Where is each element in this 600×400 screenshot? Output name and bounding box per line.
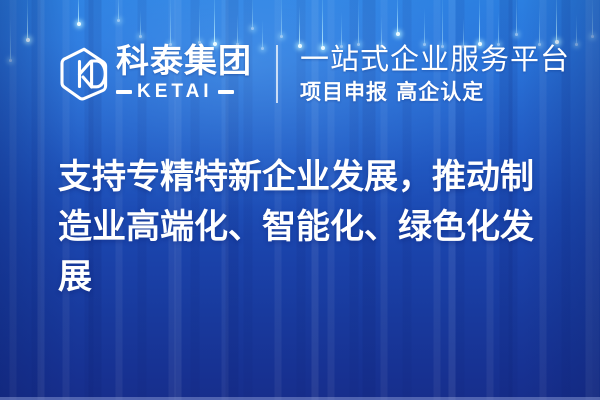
promo-banner: 科泰集团 KETAI 一站式企业服务平台 项目申报 高企认定 支持专精特新企业发…: [0, 0, 600, 400]
light-streak-icon: [199, 4, 200, 42]
brand-logo[interactable]: 科泰集团 KETAI: [58, 44, 252, 103]
light-streak-icon: [424, 8, 425, 44]
dash-left-icon: [116, 90, 132, 94]
header-divider: [276, 45, 278, 103]
light-streak-icon: [397, 0, 398, 34]
light-streak-icon: [516, 0, 517, 34]
light-streak-icon: [498, 12, 499, 44]
slogan-block: 一站式企业服务平台 项目申报 高企认定: [300, 44, 570, 103]
dash-right-icon: [218, 90, 234, 94]
light-streak-icon: [118, 0, 119, 20]
light-streak-icon: [556, 0, 557, 42]
light-streak-icon: [237, 14, 238, 44]
light-streak-icon: [576, 14, 577, 44]
headline-text: 支持专精特新企业发展，推动制造业高端化、智能化、绿色化发展: [58, 152, 558, 302]
light-streak-icon: [341, 12, 342, 46]
light-streak-icon: [592, 0, 593, 36]
light-streak-icon: [281, 0, 282, 36]
light-streak-icon: [322, 0, 323, 48]
light-streak-icon: [299, 6, 300, 46]
light-streak-icon: [10, 18, 11, 60]
slogan-main-text: 一站式企业服务平台: [300, 44, 570, 74]
light-streak-icon: [140, 10, 141, 36]
light-streak-icon: [539, 6, 540, 44]
light-streak-icon: [78, 0, 79, 24]
light-streak-icon: [479, 0, 480, 44]
slogan-sub-text: 项目申报 高企认定: [300, 81, 570, 103]
light-streak-icon: [170, 0, 171, 44]
light-streak-icon: [214, 0, 215, 44]
light-streak-icon: [252, 0, 253, 28]
company-name-cn: 科泰集团: [116, 44, 252, 77]
company-name-en: KETAI: [137, 81, 213, 103]
light-streak-icon: [27, 0, 28, 40]
light-streak-icon: [442, 0, 443, 46]
light-streak-icon: [358, 0, 359, 44]
banner-header: 科泰集团 KETAI 一站式企业服务平台 项目申报 高企认定: [58, 44, 570, 103]
brand-logo-text: 科泰集团 KETAI: [116, 44, 252, 103]
company-name-en-row: KETAI: [116, 81, 252, 103]
ketai-kt-monogram-icon: [58, 46, 110, 102]
